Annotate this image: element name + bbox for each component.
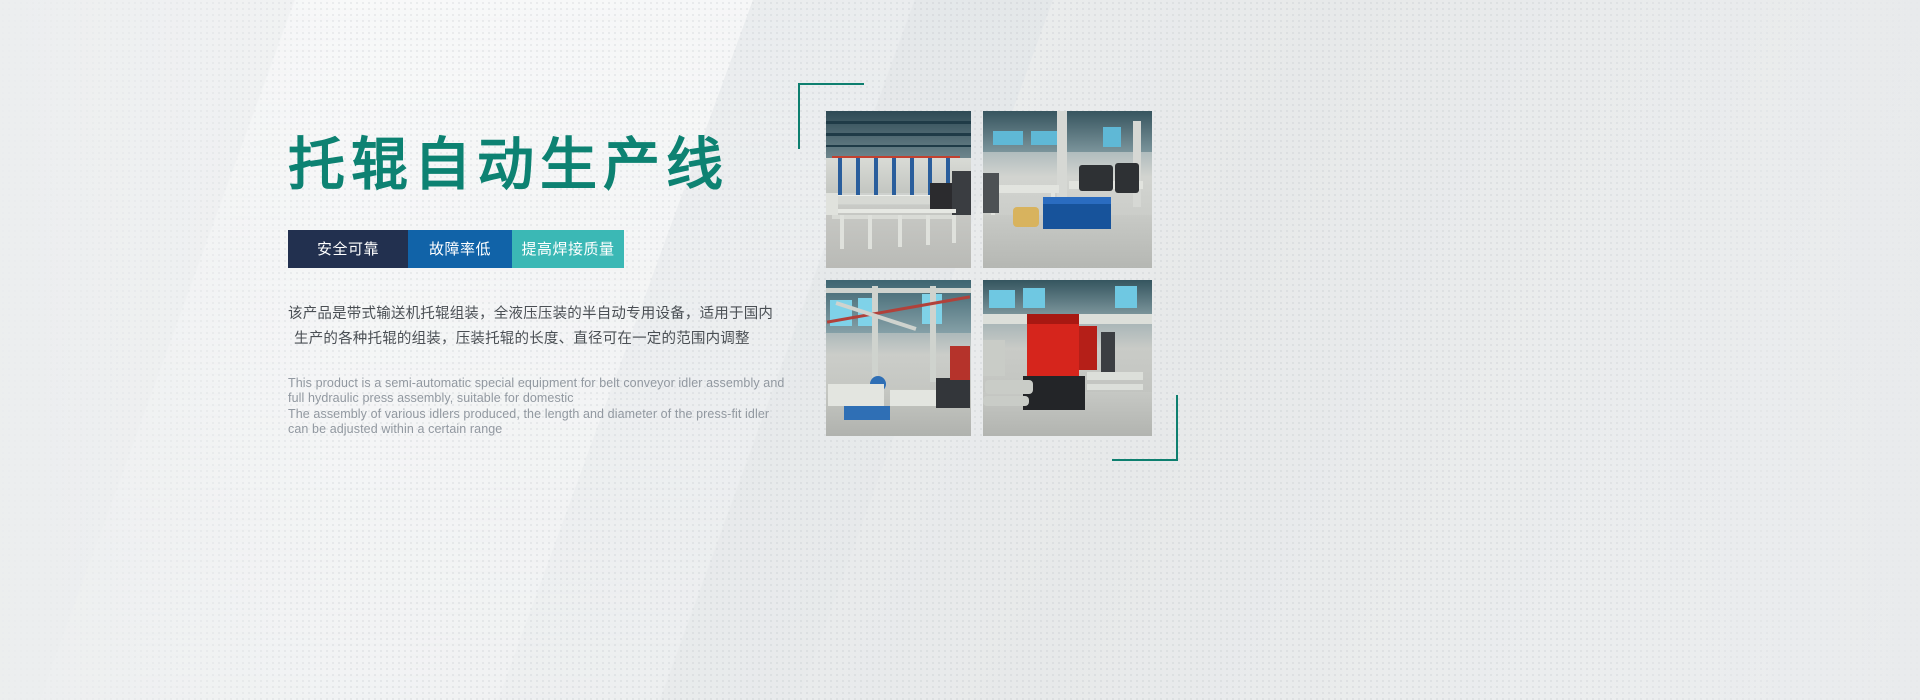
feature-tag-list: 安全可靠 故障率低 提高焊接质量 xyxy=(288,230,624,268)
feature-tag-improved-weld-quality[interactable]: 提高焊接质量 xyxy=(512,230,624,268)
description-english-line-1: This product is a semi-automatic special… xyxy=(288,376,758,392)
gallery-photo-red-welding-machine[interactable] xyxy=(983,280,1152,436)
gallery-photo-factory-interior-pipes[interactable] xyxy=(826,280,971,436)
photo-grid xyxy=(826,111,1152,436)
photo-gallery xyxy=(826,111,1152,436)
banner-copy-block: 托辊自动生产线 安全可靠 故障率低 提高焊接质量 该产品是带式输送机托辊组装，全… xyxy=(288,134,758,438)
gallery-photo-conveyor-production-line[interactable] xyxy=(826,111,971,268)
page-title: 托辊自动生产线 xyxy=(288,134,758,198)
description-chinese-line-1: 该产品是带式输送机托辊组装，全液压压装的半自动专用设备，适用于国内 xyxy=(288,302,758,327)
feature-tag-safe-reliable[interactable]: 安全可靠 xyxy=(288,230,408,268)
description-english: This product is a semi-automatic special… xyxy=(288,376,758,438)
feature-tag-low-failure-rate[interactable]: 故障率低 xyxy=(408,230,512,268)
description-chinese: 该产品是带式输送机托辊组装，全液压压装的半自动专用设备，适用于国内 生产的各种托… xyxy=(288,302,758,352)
gallery-photo-workshop-blue-crate[interactable] xyxy=(983,111,1152,268)
description-english-line-2: full hydraulic press assembly, suitable … xyxy=(288,391,758,407)
description-chinese-line-2: 生产的各种托辊的组装，压装托辊的长度、直径可在一定的范围内调整 xyxy=(288,327,758,352)
description-english-line-3: The assembly of various idlers produced,… xyxy=(288,407,758,423)
description-english-line-4: can be adjusted within a certain range xyxy=(288,422,758,438)
